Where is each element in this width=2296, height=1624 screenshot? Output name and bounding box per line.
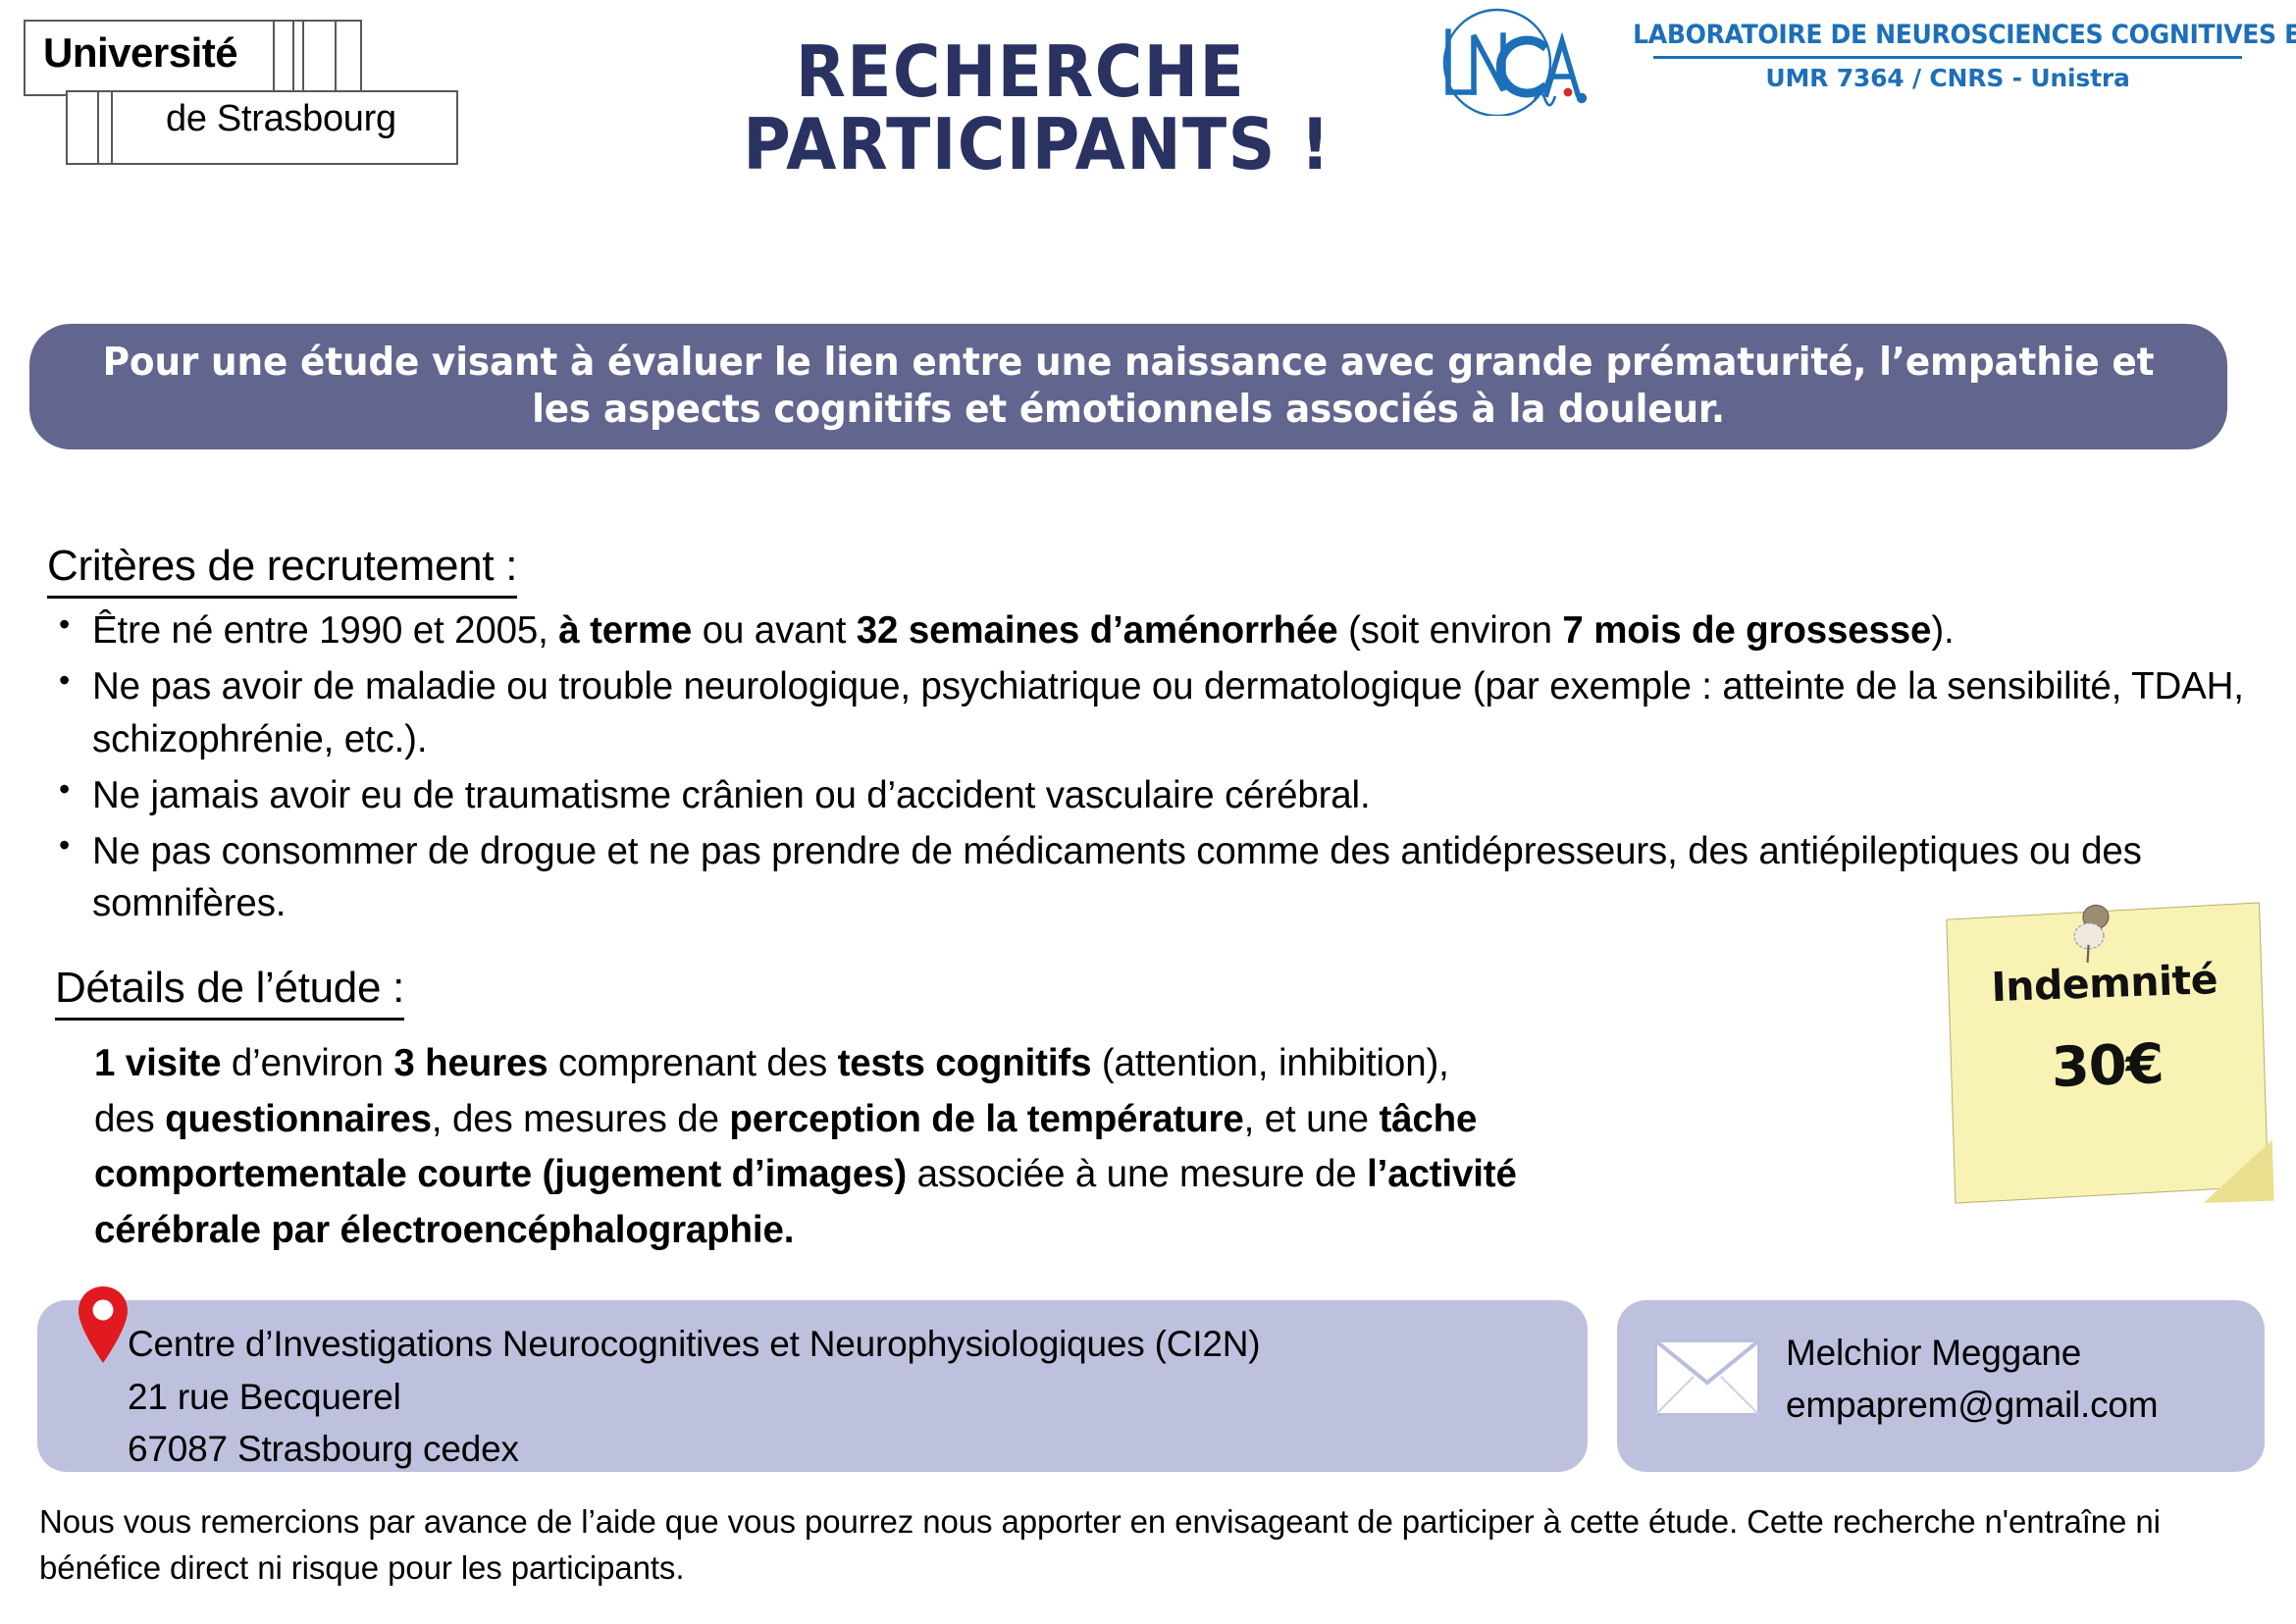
- criteria-section-heading-text: Critères de recrutement :: [47, 542, 517, 599]
- criteria-item: Ne pas avoir de maladie ou trouble neuro…: [92, 660, 2251, 766]
- details-run-4: tests cognitifs: [838, 1042, 1092, 1084]
- criteria-item-0-run-1: à terme: [558, 609, 692, 652]
- details-run-11: associée à une mesure de: [907, 1153, 1367, 1195]
- poster-root: Université de Strasbourg RECHERCHE PARTI…: [0, 0, 2296, 1624]
- address-contact-box: Centre d’Investigations Neurocognitives …: [37, 1300, 1588, 1472]
- criteria-item-0-run-0: Être né entre 1990 et 2005,: [92, 609, 558, 652]
- lnca-logo-divider: [1653, 56, 2242, 59]
- email-contact-box: Melchior Meggane empaprem@gmail.com: [1617, 1300, 2265, 1472]
- criteria-item-0-run-6: ).: [1931, 609, 1954, 652]
- criteria-item-1-run-0: Ne pas avoir de maladie ou trouble neuro…: [92, 665, 2244, 760]
- footer-note: Nous vous remercions par avance de l’aid…: [39, 1499, 2198, 1592]
- email-text: Melchior Meggane empaprem@gmail.com: [1786, 1327, 2158, 1432]
- pushpin-icon: [2064, 902, 2120, 968]
- sticky-note-text: Indemnité 30€: [1947, 955, 2266, 1104]
- address-line-1: Centre d’Investigations Neurocognitives …: [128, 1318, 1260, 1371]
- details-paragraph: 1 visite d’environ 3 heures comprenant d…: [94, 1036, 1517, 1258]
- contact-person-name: Melchior Meggane: [1786, 1327, 2158, 1379]
- criteria-item-0-run-2: ou avant: [692, 609, 857, 652]
- criteria-item: Ne pas consommer de drogue et ne pas pre…: [92, 825, 2251, 931]
- lnca-logo-title: LABORATOIRE DE NEUROSCIENCES COGNITIVES …: [1633, 20, 2263, 50]
- contact-email-address[interactable]: empaprem@gmail.com: [1786, 1379, 2158, 1431]
- details-section-heading: Détails de l’étude :: [55, 964, 404, 1013]
- page-title-line2: PARTICIPANTS !: [718, 108, 1356, 181]
- study-summary-text: Pour une étude visant à évaluer le lien …: [74, 340, 2183, 433]
- unistra-logo-bottom-bar: de Strasbourg: [66, 90, 458, 165]
- unistra-tick-6: [111, 92, 113, 163]
- unistra-tick-2: [292, 22, 294, 94]
- study-summary-banner: Pour une étude visant à évaluer le lien …: [29, 324, 2227, 449]
- unistra-tick-4: [335, 22, 337, 94]
- details-run-2: 3 heures: [393, 1042, 548, 1084]
- criteria-item-0-run-4: (soit environ: [1338, 609, 1563, 652]
- address-line-2: 21 rue Becquerel: [128, 1371, 1260, 1424]
- unistra-tick-3: [302, 22, 304, 94]
- page-title: RECHERCHE PARTICIPANTS !: [677, 35, 1383, 181]
- details-run-7: , des mesures de: [432, 1098, 729, 1140]
- lnca-logo: LABORATOIRE DE NEUROSCIENCES COGNITIVES …: [1413, 6, 2286, 116]
- lnca-logo-text: LABORATOIRE DE NEUROSCIENCES COGNITIVES …: [1609, 20, 2286, 92]
- address-line-3: 67087 Strasbourg cedex: [128, 1423, 1260, 1476]
- sticky-note-corner-curl: [2202, 1140, 2274, 1203]
- map-pin-icon: [75, 1284, 131, 1367]
- unistra-logo-line2: de Strasbourg: [166, 98, 396, 140]
- criteria-section-heading: Critères de recrutement :: [47, 542, 517, 591]
- envelope-icon: [1654, 1339, 1760, 1416]
- criteria-item: Être né entre 1990 et 2005, à terme ou a…: [92, 604, 2251, 657]
- criteria-item-0-run-3: 32 semaines d’aménorrhée: [857, 609, 1338, 652]
- criteria-list: Être né entre 1990 et 2005, à terme ou a…: [43, 604, 2251, 933]
- details-run-0: 1 visite: [94, 1042, 221, 1084]
- unistra-logo-line1: Université: [43, 29, 237, 77]
- unistra-tick-5: [97, 92, 99, 163]
- unistra-logo-top-bar: Université: [24, 20, 362, 96]
- lnca-logo-mark-icon: [1413, 6, 1599, 116]
- criteria-item-0-run-5: 7 mois de grossesse: [1562, 609, 1931, 652]
- criteria-item-3-run-0: Ne pas consommer de drogue et ne pas pre…: [92, 830, 2142, 925]
- details-run-6: questionnaires: [165, 1098, 432, 1140]
- details-run-9: , et une: [1244, 1098, 1380, 1140]
- criteria-item-2-run-0: Ne jamais avoir eu de traumatisme crânie…: [92, 774, 1371, 816]
- details-run-3: comprenant des: [548, 1042, 838, 1084]
- compensation-sticky-note: Indemnité 30€: [1943, 902, 2272, 1213]
- unistra-tick-1: [273, 22, 275, 94]
- details-section-heading-text: Détails de l’étude :: [55, 964, 404, 1021]
- lnca-logo-subtitle: UMR 7364 / CNRS - Unistra: [1609, 64, 2286, 92]
- address-text: Centre d’Investigations Neurocognitives …: [128, 1318, 1260, 1476]
- compensation-amount: 30€: [1950, 1028, 2266, 1103]
- criteria-item: Ne jamais avoir eu de traumatisme crânie…: [92, 769, 2251, 822]
- poster-header: Université de Strasbourg RECHERCHE PARTI…: [0, 0, 2296, 196]
- details-run-1: d’environ: [221, 1042, 393, 1084]
- page-title-line1: RECHERCHE: [687, 35, 1355, 108]
- universite-de-strasbourg-logo: Université de Strasbourg: [14, 14, 465, 171]
- details-run-8: perception de la température: [729, 1098, 1243, 1140]
